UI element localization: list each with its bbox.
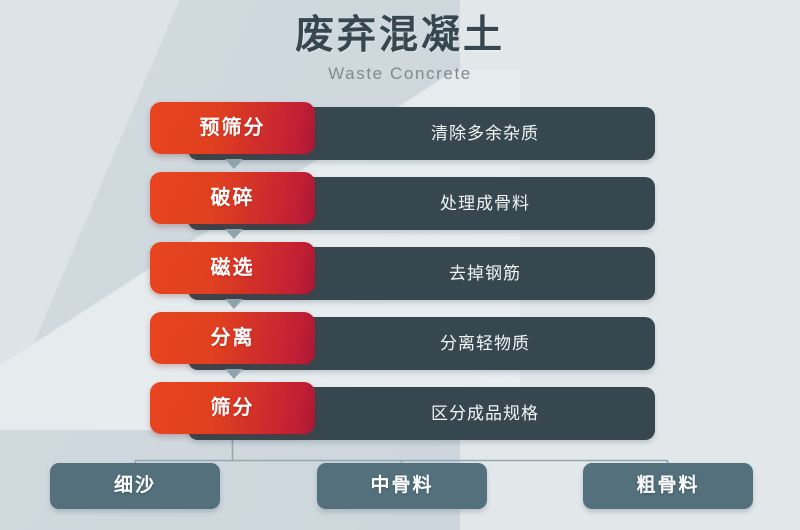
product-label: 粗骨料 (583, 463, 753, 509)
header: 废弃混凝土 Waste Concrete (0, 12, 800, 86)
step-stage-label: 分离 (150, 312, 315, 364)
down-arrow-icon (225, 229, 243, 239)
step-stage-pill[interactable]: 预筛分 (150, 102, 315, 154)
step-stage-label: 磁选 (150, 242, 315, 294)
page-subtitle: Waste Concrete (0, 62, 800, 86)
product-label: 中骨料 (317, 463, 487, 509)
step-description-label: 清除多余杂质 (315, 107, 655, 160)
step-stage-pill[interactable]: 分离 (150, 312, 315, 364)
product-label: 细沙 (50, 463, 220, 509)
step-stage-pill[interactable]: 筛分 (150, 382, 315, 434)
product-box-coarse-aggregate[interactable]: 粗骨料 (583, 463, 753, 509)
process-step-row: 区分成品规格 筛分 (0, 382, 800, 452)
process-step-row: 去掉钢筋 磁选 (0, 242, 800, 312)
product-output-list: 细沙 中骨料 粗骨料 (0, 463, 800, 513)
product-box-medium-aggregate[interactable]: 中骨料 (317, 463, 487, 509)
down-arrow-icon (225, 369, 243, 379)
step-description-label: 分离轻物质 (315, 317, 655, 370)
process-step-row: 清除多余杂质 预筛分 (0, 102, 800, 172)
step-stage-label: 筛分 (150, 382, 315, 434)
process-step-row: 分离轻物质 分离 (0, 312, 800, 382)
product-box-fine-sand[interactable]: 细沙 (50, 463, 220, 509)
down-arrow-icon (225, 299, 243, 309)
step-stage-pill[interactable]: 破碎 (150, 172, 315, 224)
down-arrow-icon (225, 159, 243, 169)
process-step-row: 处理成骨料 破碎 (0, 172, 800, 242)
process-flow-list: 清除多余杂质 预筛分 处理成骨料 破碎 去掉钢筋 磁选 (0, 102, 800, 452)
step-stage-pill[interactable]: 磁选 (150, 242, 315, 294)
page-title: 废弃混凝土 (0, 12, 800, 60)
step-description-label: 去掉钢筋 (315, 247, 655, 300)
step-description-label: 处理成骨料 (315, 177, 655, 230)
step-stage-label: 预筛分 (150, 102, 315, 154)
step-stage-label: 破碎 (150, 172, 315, 224)
infographic-canvas: 废弃混凝土 Waste Concrete 清除多余杂质 预筛分 处理成骨料 破碎 (0, 0, 800, 530)
step-description-label: 区分成品规格 (315, 387, 655, 440)
